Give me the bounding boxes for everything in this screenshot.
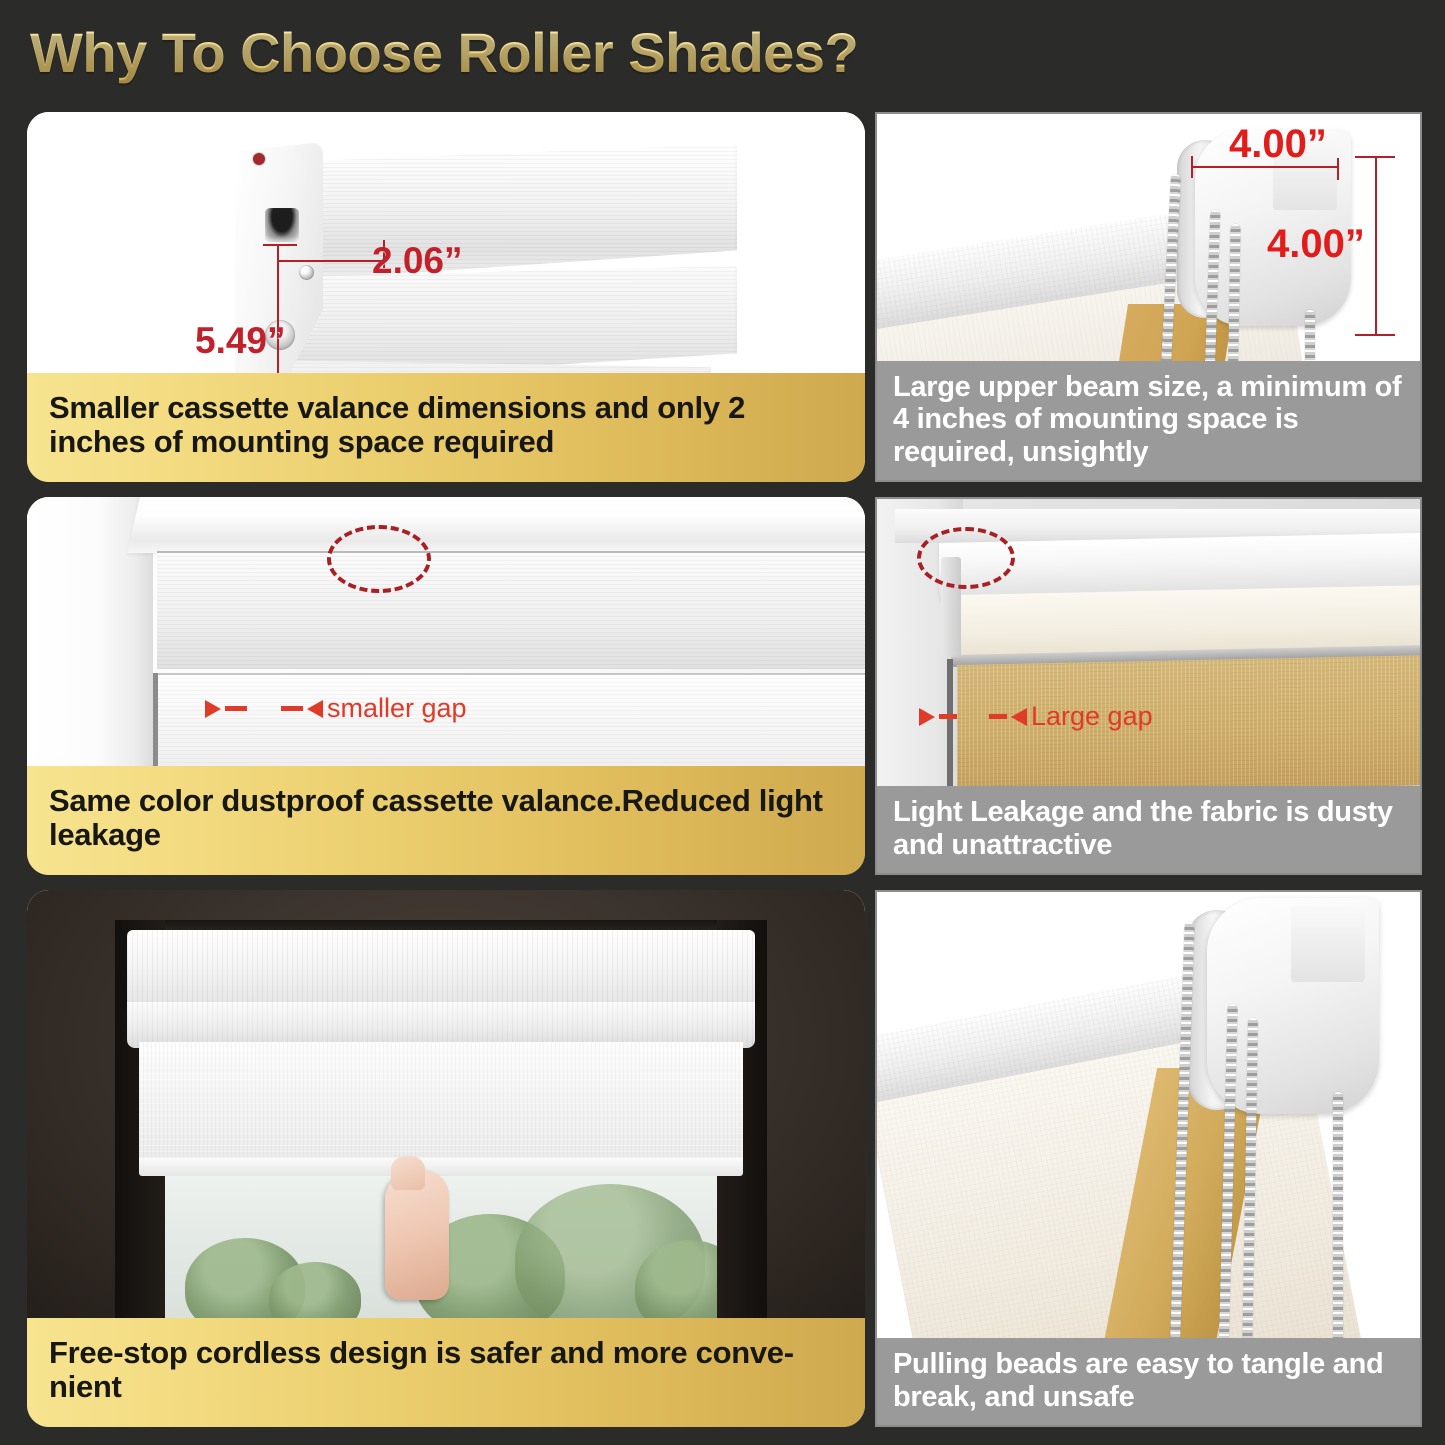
caption-con-beam-size: Large upper beam size, a minimum of 4 in… xyxy=(877,361,1420,480)
dimension-label-height: 5.49” xyxy=(195,320,286,362)
panel-pro-cassette-size: 5.49” 2.06” Smaller cassette valance dim… xyxy=(27,112,865,482)
panel-pro-cordless-design: Free-stop cordless design is safer and m… xyxy=(27,890,865,1427)
photo-cassette-valance-profile: 5.49” 2.06” xyxy=(27,112,865,373)
annotation-smaller-gap: smaller gap xyxy=(205,693,467,724)
arrow-left-icon xyxy=(1011,708,1027,726)
photo-cordless-window-scene xyxy=(27,890,865,1318)
arrow-left-icon xyxy=(307,700,323,718)
annotation-smaller-gap-label: smaller gap xyxy=(327,693,467,724)
photo-light-leakage-gap: Large gap xyxy=(877,499,1420,786)
arrow-right-icon xyxy=(205,700,221,718)
highlight-ellipse-icon xyxy=(917,527,1015,589)
highlight-ellipse-icon xyxy=(327,525,431,593)
comparison-grid: 5.49” 2.06” Smaller cassette valance dim… xyxy=(0,104,1445,1445)
bead-chain-icon xyxy=(1305,310,1315,361)
photo-dustproof-cassette-valance: smaller gap xyxy=(27,497,865,766)
annotation-large-gap: Large gap xyxy=(919,701,1153,732)
panel-con-pulling-beads: Pulling beads are easy to tangle and bre… xyxy=(875,890,1422,1427)
panel-con-light-leakage: Large gap Light Leakage and the fabric i… xyxy=(875,497,1422,875)
cord-slot-icon xyxy=(265,208,299,242)
panel-pro-dustproof-valance: smaller gap Same color dustproof cassett… xyxy=(27,497,865,875)
page-title: Why To Choose Roller Shades? xyxy=(30,20,858,85)
dimension-label-depth: 2.06” xyxy=(372,240,463,282)
caption-pro-cassette-size: Smaller cassette valance dimensions and … xyxy=(27,373,865,482)
caption-pro-dustproof-valance: Same color dustproof cassette valance.Re… xyxy=(27,766,865,875)
photo-large-upper-beam: 4.00” 4.00” xyxy=(877,114,1420,361)
bead-chain-icon xyxy=(1333,1092,1343,1338)
dimension-label-beam-width: 4.00” xyxy=(1229,122,1327,167)
caption-con-pulling-beads: Pulling beads are easy to tangle and bre… xyxy=(877,1338,1420,1425)
page-header: Why To Choose Roller Shades? xyxy=(0,0,1445,104)
panel-con-beam-size: 4.00” 4.00” Large upper beam size, a min… xyxy=(875,112,1422,482)
annotation-large-gap-label: Large gap xyxy=(1031,701,1153,732)
photo-pulling-bead-chains xyxy=(877,892,1420,1338)
caption-pro-cordless-design: Free-stop cordless design is safer and m… xyxy=(27,1318,865,1427)
caption-con-light-leakage: Light Leakage and the fabric is dusty an… xyxy=(877,786,1420,873)
dimension-label-beam-height: 4.00” xyxy=(1267,222,1365,267)
arrow-right-icon xyxy=(919,708,935,726)
hand-illustration xyxy=(385,1170,449,1300)
